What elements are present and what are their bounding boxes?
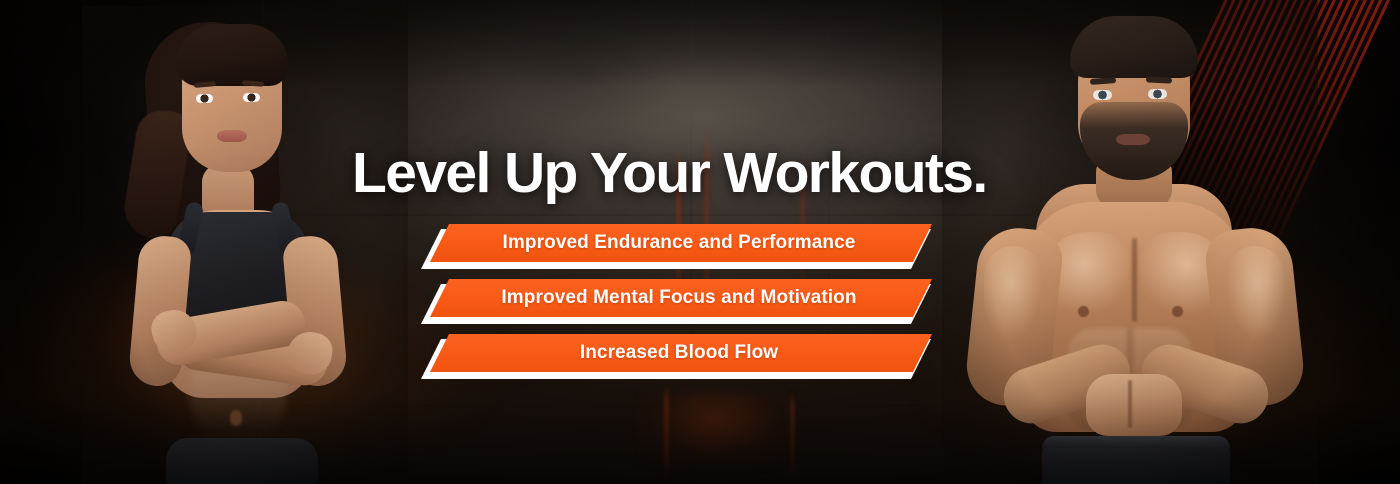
benefit-chip-body: Increased Blood Flow [430,334,932,372]
benefit-chip-label: Increased Blood Flow [580,342,778,364]
benefit-chip: Improved Endurance and Performance [430,224,940,264]
fitness-model-man-image [950,6,1310,484]
benefit-chip: Increased Blood Flow [430,334,940,374]
headline: Level Up Your Workouts. [352,145,1012,202]
benefits-list: Improved Endurance and Performance Impro… [430,224,940,389]
banner-content: Level Up Your Workouts. Improved Enduran… [352,0,952,484]
promo-banner: Level Up Your Workouts. Improved Enduran… [0,0,1400,484]
benefit-chip-label: Improved Mental Focus and Motivation [501,287,856,309]
benefit-chip-label: Improved Endurance and Performance [503,232,856,254]
benefit-chip: Improved Mental Focus and Motivation [430,279,940,319]
benefit-chip-body: Improved Mental Focus and Motivation [430,279,932,317]
benefit-chip-body: Improved Endurance and Performance [430,224,932,262]
